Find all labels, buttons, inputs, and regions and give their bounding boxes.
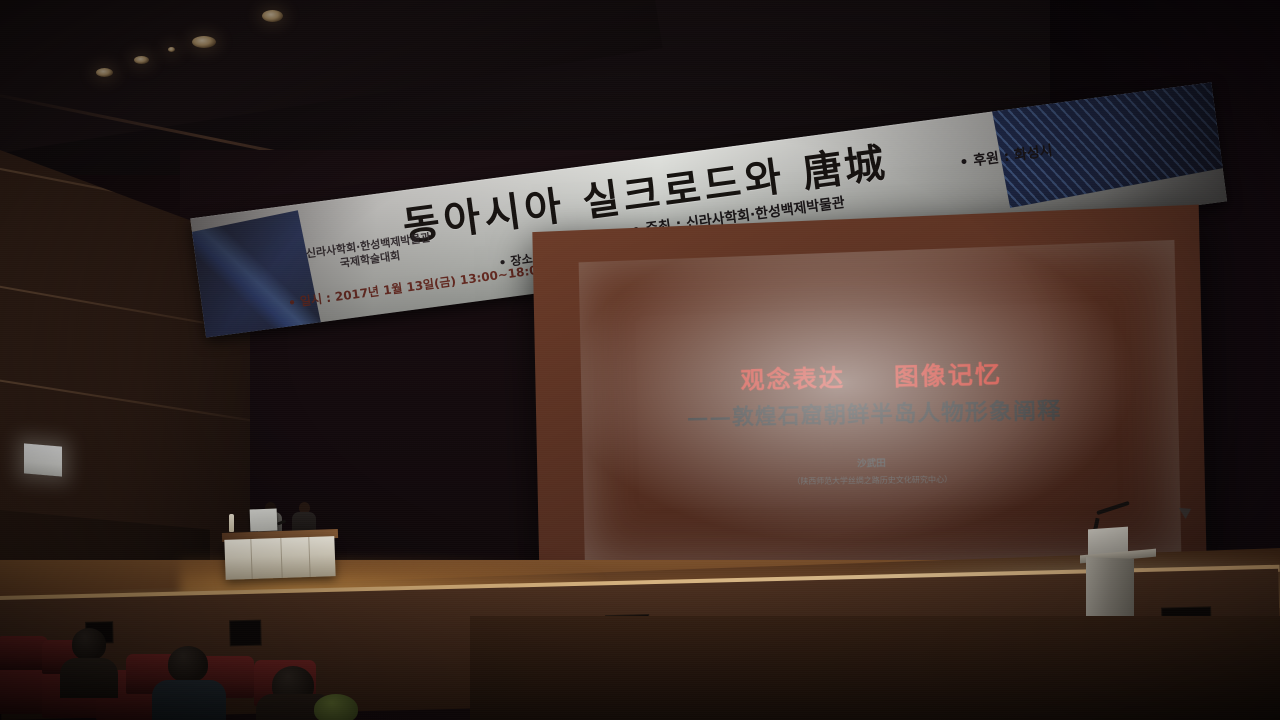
- cursor-pointer-icon: [1179, 503, 1195, 519]
- slide-title-part-1: 观念表达: [740, 364, 845, 394]
- water-bottle-icon: [229, 514, 234, 532]
- wall-exit-light: [24, 443, 62, 476]
- ceiling-downlight-2: [134, 56, 149, 64]
- audience-head: [314, 694, 358, 720]
- table-skirt: [224, 536, 335, 580]
- banner-host-lines: 신라사학회·한성백제박물관 국제학술대회: [305, 231, 433, 275]
- banner-graphic-left: [190, 210, 322, 337]
- house-floor: [470, 616, 1280, 720]
- slide-title-part-2: 图像记忆: [894, 360, 1003, 391]
- audience-head: [72, 628, 106, 660]
- slide-title: 观念表达 图像记忆: [581, 350, 1178, 400]
- ceiling-downlight-1: [96, 68, 113, 77]
- ceiling-downlight-3: [168, 47, 175, 52]
- speaker-table-group: [222, 498, 342, 590]
- ceiling-downlight-4: [192, 36, 216, 48]
- presentation-slide: 观念表达 图像记忆 ——敦煌石窟朝鲜半岛人物形象阐释 沙武田 （陕西师范大学丝绸…: [581, 350, 1180, 490]
- table-skirt-seam: [308, 537, 310, 577]
- wall-panel-band: [0, 378, 286, 427]
- table-skirt-seam: [250, 539, 252, 579]
- slide-subtitle: ——敦煌石窟朝鲜半岛人物形象阐释: [582, 391, 1179, 434]
- audience-head: [168, 646, 208, 682]
- theater-seat: [0, 668, 48, 714]
- audience-shoulders: [60, 658, 118, 698]
- slide-author: 沙武田: [583, 451, 1180, 473]
- ceiling-downlight-5: [262, 10, 283, 22]
- auditorium-scene: 동아시아 실크로드와 唐城 신라사학회·한성백제박물관 국제학술대회 • 일시 …: [0, 0, 1280, 720]
- table-skirt-seam: [280, 538, 282, 578]
- slide-affiliation: （陕西师范大学丝绸之路历史文化研究中心）: [583, 471, 1180, 490]
- projection-screen-surface: 观念表达 图像记忆 ——敦煌石窟朝鲜半岛人物形象阐释 沙武田 （陕西师范大学丝绸…: [579, 240, 1182, 565]
- audience-seating: [0, 616, 470, 720]
- slide-title-spacer: [856, 385, 884, 386]
- laptop-icon: [250, 509, 278, 532]
- theater-seat: [0, 636, 48, 670]
- audience-shoulders: [152, 680, 226, 720]
- banner-title-hanja: 唐城: [800, 140, 889, 197]
